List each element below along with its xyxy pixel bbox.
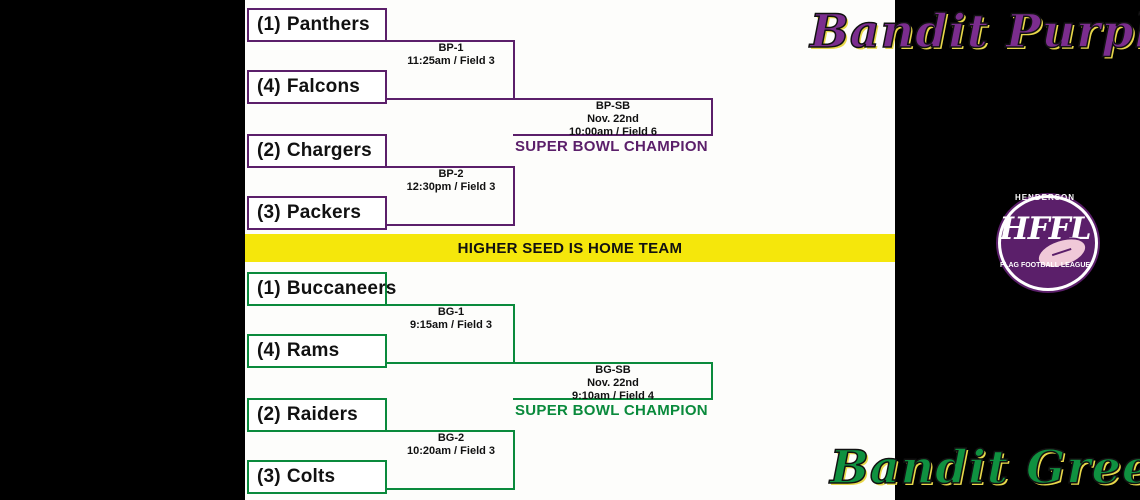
game-date: Nov. 22nd [513,113,713,126]
seed-label: (1) [257,278,281,300]
champion-label-purple: SUPER BOWL CHAMPION [515,138,708,155]
game-code: BP-2 [387,168,515,181]
game-label-bg1: BG-1 9:15am / Field 3 [387,306,515,332]
team-slot-green-4: (4) Rams [247,334,387,368]
team-name: Falcons [287,76,360,98]
connector-purple-semi2-bottom [387,224,515,226]
team-slot-green-3: (3) Colts [247,460,387,494]
connector-green-semi2-bottom [387,488,515,490]
connector-purple-semi1-bottom [387,98,515,100]
page-title-purple: Bandit Purple [810,4,1140,58]
team-name: Buccaneers [287,278,397,300]
page-title-green: Bandit Green [830,440,1140,494]
team-slot-purple-2: (2) Chargers [247,134,387,168]
team-name: Panthers [287,14,370,36]
champion-bar-purple-top [513,98,713,100]
logo-arc-bottom: FLAG FOOTBALL LEAGUE [990,261,1100,270]
team-name: Packers [287,202,361,224]
game-code: BG-SB [513,364,713,377]
game-date: Nov. 22nd [513,377,713,390]
seed-label: (2) [257,404,281,426]
game-time: 10:20am / Field 3 [387,445,515,458]
team-name: Chargers [287,140,372,162]
team-name: Raiders [287,404,358,426]
team-name: Rams [287,340,340,362]
seed-label: (3) [257,466,281,488]
game-label-bp-sb: BP-SB Nov. 22nd 10:00am / Field 6 [513,100,713,139]
team-name: Colts [287,466,336,488]
screenshot-root: (1) Panthers (4) Falcons (2) Chargers (3… [0,0,1140,500]
game-label-bp1: BP-1 11:25am / Field 3 [387,42,515,68]
team-slot-purple-1: (1) Panthers [247,8,387,42]
game-time: 11:25am / Field 3 [387,55,515,68]
higher-seed-banner-text: HIGHER SEED IS HOME TEAM [458,240,683,257]
seed-label: (1) [257,14,281,36]
game-code: BP-SB [513,100,713,113]
higher-seed-banner: HIGHER SEED IS HOME TEAM [245,234,895,262]
connector-green-semi1-bottom [387,362,515,364]
seed-label: (2) [257,140,281,162]
team-slot-purple-4: (4) Falcons [247,70,387,104]
logo-arc-top: HENDERSON [990,193,1100,202]
game-code: BP-1 [387,42,515,55]
game-code: BG-1 [387,306,515,319]
game-label-bp2: BP-2 12:30pm / Field 3 [387,168,515,194]
seed-label: (3) [257,202,281,224]
game-time: 9:15am / Field 3 [387,319,515,332]
champion-label-green: SUPER BOWL CHAMPION [515,402,708,419]
seed-label: (4) [257,76,281,98]
game-time: 12:30pm / Field 3 [387,181,515,194]
team-slot-green-1: (1) Buccaneers [247,272,387,306]
game-code: BG-2 [387,432,515,445]
hffl-logo: HENDERSON HFFL FLAG FOOTBALL LEAGUE [990,185,1100,295]
seed-label: (4) [257,340,281,362]
game-label-bg2: BG-2 10:20am / Field 3 [387,432,515,458]
game-label-bg-sb: BG-SB Nov. 22nd 9:10am / Field 4 [513,364,713,403]
team-slot-green-2: (2) Raiders [247,398,387,432]
team-slot-purple-3: (3) Packers [247,196,387,230]
